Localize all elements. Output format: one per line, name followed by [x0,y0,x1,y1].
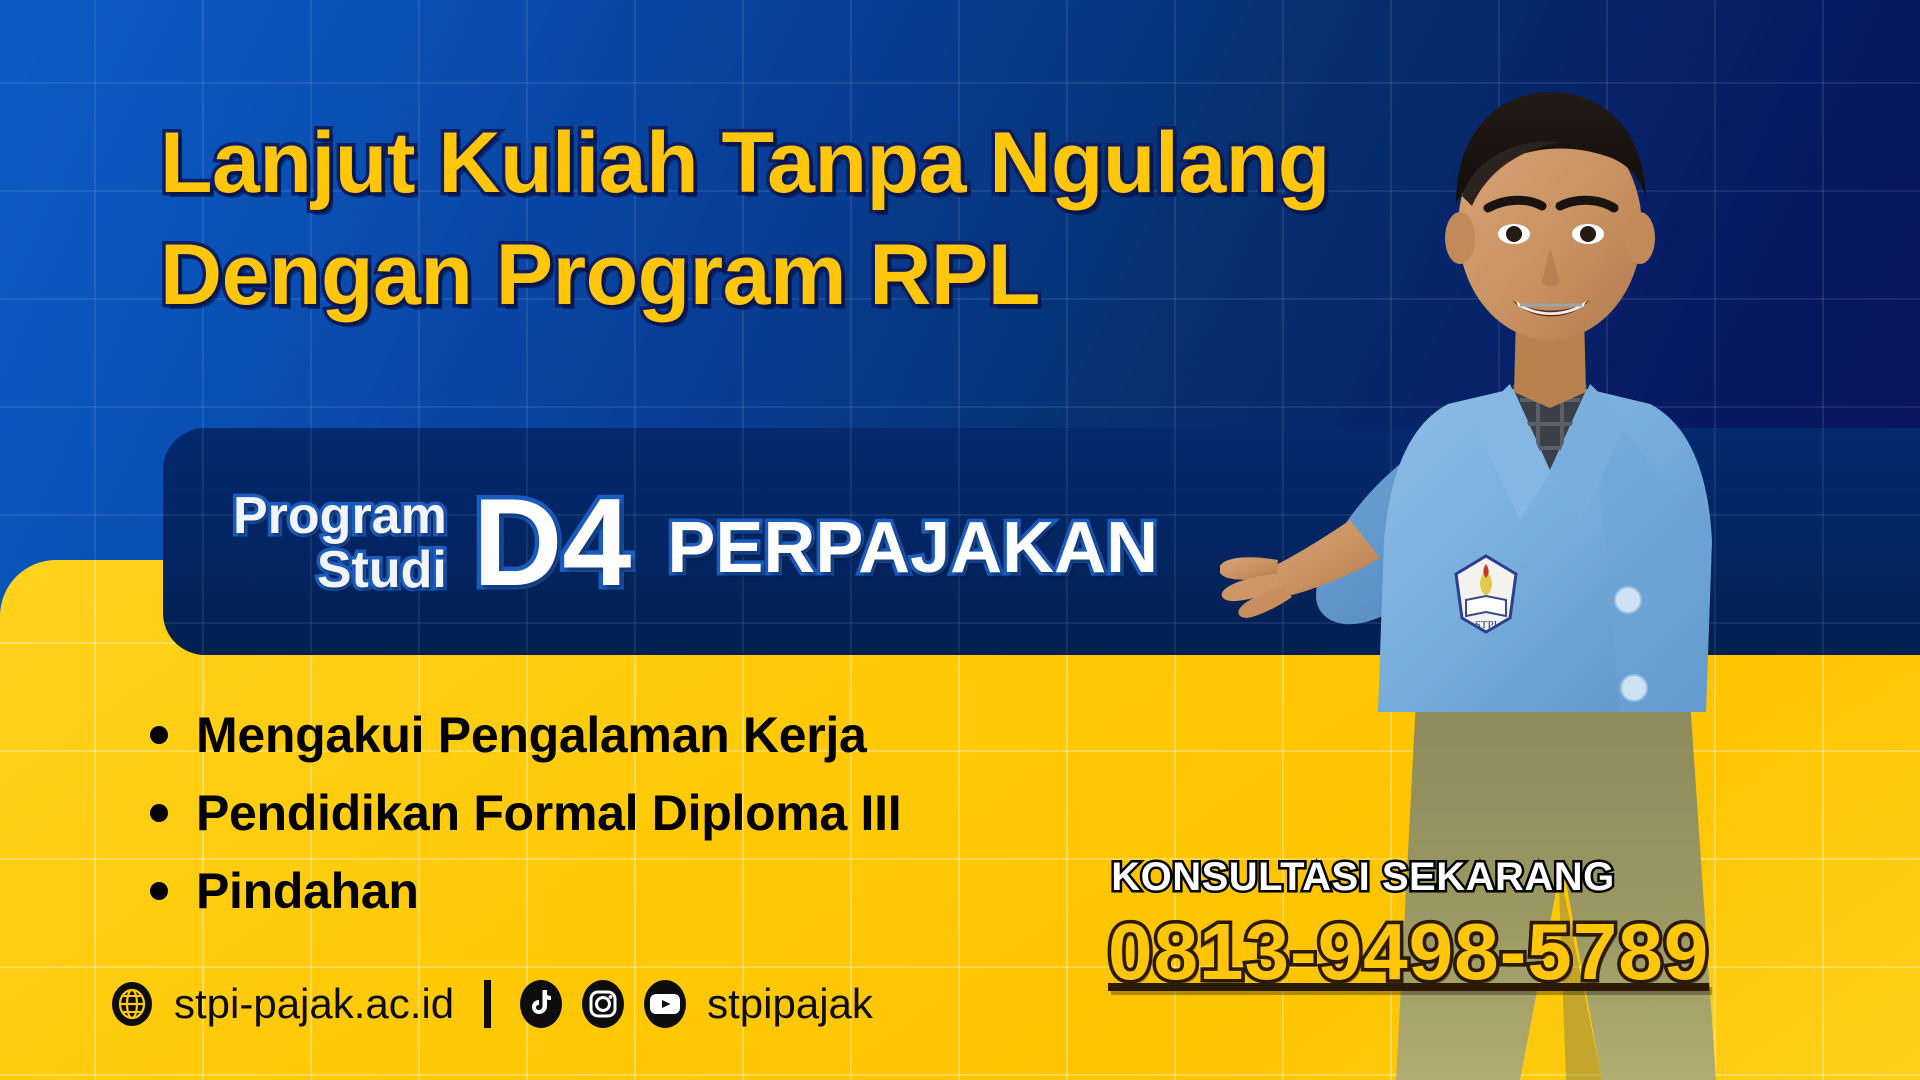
globe-icon[interactable] [108,980,156,1028]
program-studi-panel: Program Studi D4 PERPAJAKAN [163,428,1920,653]
list-item: Pindahan [150,861,901,921]
benefit-text: Pendidikan Formal Diploma III [196,784,901,842]
cta-title: KONSULTASI SEKARANG [1108,855,1618,900]
list-item: Mengakui Pengalaman Kerja [150,705,901,765]
footer-contact-bar: stpi-pajak.ac.id [108,980,873,1028]
headline: Lanjut Kuliah Tanpa Ngulang Dengan Progr… [160,108,1480,332]
promo-banner: STPI Lanjut Kuliah Tanpa Ngulang Dengan … [0,0,1920,1080]
program-studi-label: Program Studi [233,490,447,596]
studi-label: Studi [317,544,447,597]
headline-line-2: Dengan Program RPL [160,220,1480,332]
social-handle[interactable]: stpipajak [707,980,873,1028]
social-icons-group [517,980,689,1028]
phone-number[interactable]: 0813-9498-5789 [1108,906,1618,998]
benefits-list: Mengakui Pengalaman Kerja Pendidikan For… [150,705,901,939]
major-name: PERPAJAKAN [667,507,1158,589]
headline-line-1: Lanjut Kuliah Tanpa Ngulang [160,108,1480,220]
benefit-text: Pindahan [196,862,419,920]
website-url[interactable]: stpi-pajak.ac.id [174,980,454,1028]
bullet-dot-icon [150,882,168,900]
footer-divider [484,980,491,1028]
list-item: Pendidikan Formal Diploma III [150,783,901,843]
tiktok-icon[interactable] [517,980,565,1028]
benefit-text: Mengakui Pengalaman Kerja [196,706,867,764]
degree-d4: D4 [473,481,632,605]
youtube-icon[interactable] [641,980,689,1028]
bullet-dot-icon [150,804,168,822]
program-label: Program [233,490,447,543]
bullet-dot-icon [150,726,168,744]
consultation-cta: KONSULTASI SEKARANG 0813-9498-5789 [1108,855,1618,998]
instagram-icon[interactable] [579,980,627,1028]
